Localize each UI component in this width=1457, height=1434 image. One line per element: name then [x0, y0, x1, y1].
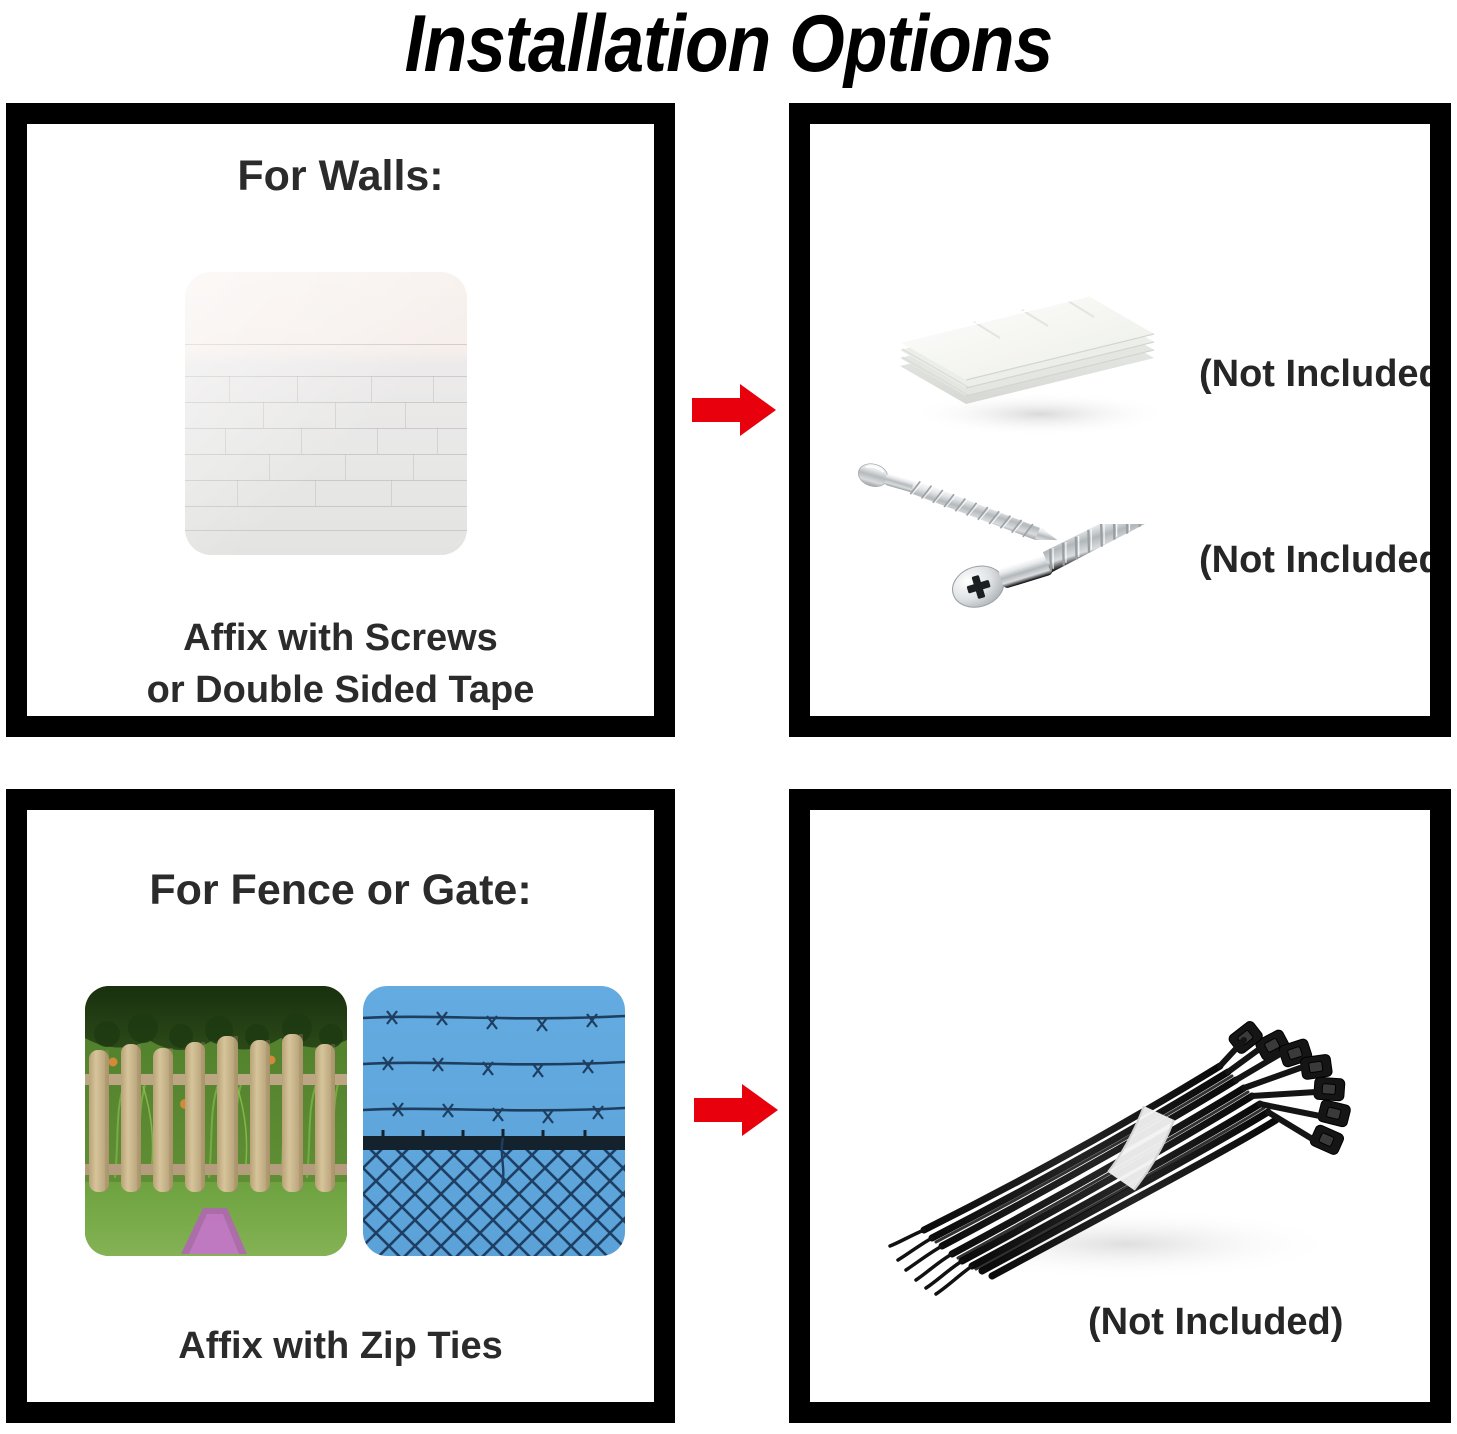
panel-hardware: (Not Included)	[789, 103, 1451, 737]
double-sided-tape-stack-image	[882, 254, 1182, 444]
page-title: Installation Options	[87, 0, 1369, 92]
white-brick-wall-image	[185, 272, 467, 555]
tape-not-included-label: (Not Included)	[1199, 353, 1430, 396]
walls-caption-line-1: Affix with Screws	[27, 612, 654, 664]
arrow-right-icon-bottom	[694, 1082, 778, 1138]
wooden-picket-fence-image	[85, 986, 347, 1256]
panel-hardware-inner: (Not Included)	[810, 124, 1430, 716]
fence-caption: Affix with Zip Ties	[27, 1320, 654, 1372]
panel-zip-ties-inner: (Not Included)	[810, 810, 1430, 1402]
screws-not-included-label: (Not Included)	[1199, 539, 1430, 582]
walls-caption-line-2: or Double Sided Tape	[27, 664, 654, 716]
arrow-right-icon-top	[692, 382, 776, 438]
panel-for-walls: For Walls:	[6, 103, 675, 737]
panel-for-fence-or-gate-inner: For Fence or Gate:	[27, 810, 654, 1402]
panel-zip-ties: (Not Included)	[789, 789, 1451, 1423]
black-zip-tie-bundle-image	[876, 954, 1376, 1334]
panel-for-fence-or-gate: For Fence or Gate:	[6, 789, 675, 1423]
panel-for-walls-inner: For Walls:	[27, 124, 654, 716]
fence-heading: For Fence or Gate:	[27, 866, 654, 915]
installation-options-infographic: Installation Options For Walls:	[0, 0, 1457, 1434]
zipties-not-included-label: (Not Included)	[1088, 1301, 1343, 1344]
chain-link-barbed-wire-fence-image	[363, 986, 625, 1256]
walls-heading: For Walls:	[27, 152, 654, 201]
wood-screw-lower-image	[946, 524, 1208, 620]
